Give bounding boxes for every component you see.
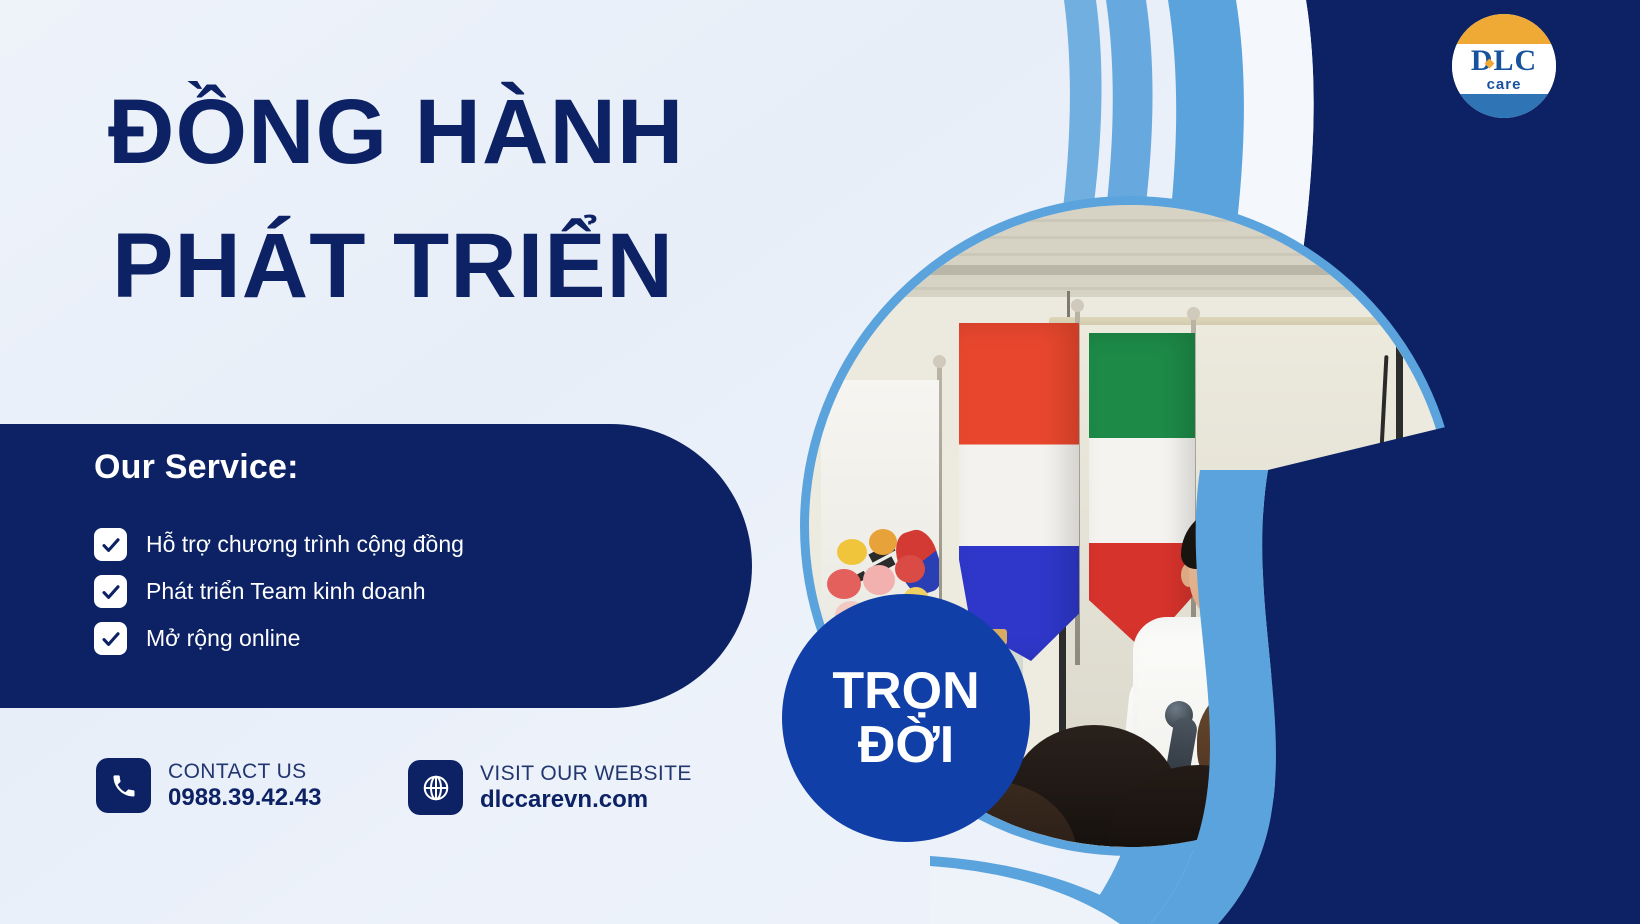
flag-netherlands (959, 323, 1079, 661)
phone-icon[interactable] (96, 758, 151, 813)
speaker-hair (1181, 507, 1289, 569)
check-icon[interactable] (94, 528, 127, 561)
check-icon[interactable] (94, 575, 127, 608)
cable-loop (1384, 325, 1438, 375)
website-block[interactable]: VISIT OUR WEBSITE dlccarevn.com (408, 760, 692, 815)
service-item[interactable]: Mở rộng online (94, 622, 694, 655)
flower-petal (863, 565, 895, 595)
bottom-left-white-curve (930, 866, 1120, 924)
headline-line-1: ĐỒNG HÀNH (108, 86, 684, 178)
wall-speaker (1357, 215, 1409, 241)
service-panel-title: Our Service: (94, 448, 299, 487)
bottom-left-blue-curve (930, 856, 1150, 924)
service-item[interactable]: Phát triển Team kinh doanh (94, 575, 694, 608)
logo-bottom-band (1452, 92, 1556, 118)
flower-petal (837, 539, 867, 565)
badge-line-1: TRỌN (832, 664, 979, 718)
contact-value: 0988.39.42.43 (168, 784, 321, 812)
tron-doi-badge: TRỌN ĐỜI (782, 594, 1030, 842)
flower-petal (895, 555, 925, 583)
service-item-label: Mở rộng online (146, 625, 300, 652)
flag-knob-netherlands (1071, 299, 1084, 312)
website-label: VISIT OUR WEBSITE (480, 761, 692, 787)
flower-petal (827, 569, 861, 599)
logo-primary-text: DLC (1452, 44, 1556, 78)
headline-line-2: PHÁT TRIỂN (112, 220, 674, 312)
service-list: Hỗ trợ chương trình cộng đồng Phát triển… (94, 528, 694, 669)
logo-top-band (1452, 14, 1556, 48)
service-item-label: Hỗ trợ chương trình cộng đồng (146, 531, 464, 558)
ceiling-beam (809, 265, 1451, 275)
promo-banner: C (0, 0, 1640, 924)
service-item[interactable]: Hỗ trợ chương trình cộng đồng (94, 528, 694, 561)
check-icon[interactable] (94, 622, 127, 655)
ceiling-panels (809, 205, 1451, 297)
flower-petal (869, 529, 897, 555)
badge-line-2: ĐỜI (858, 718, 954, 772)
dlc-care-logo[interactable]: DLC care (1452, 14, 1556, 118)
contact-block[interactable]: CONTACT US 0988.39.42.43 (96, 758, 321, 813)
flag-knob-italy (1187, 307, 1200, 320)
audience-hand (1369, 725, 1423, 797)
website-text: VISIT OUR WEBSITE dlccarevn.com (480, 761, 692, 815)
globe-icon[interactable] (408, 760, 463, 815)
contact-text: CONTACT US 0988.39.42.43 (168, 759, 321, 813)
contact-label: CONTACT US (168, 759, 321, 785)
logo-secondary-text: care (1452, 76, 1556, 93)
service-item-label: Phát triển Team kinh doanh (146, 578, 426, 605)
flag-knob-korea (933, 355, 946, 368)
screen-hook (1067, 291, 1070, 319)
website-value: dlccarevn.com (480, 786, 692, 814)
